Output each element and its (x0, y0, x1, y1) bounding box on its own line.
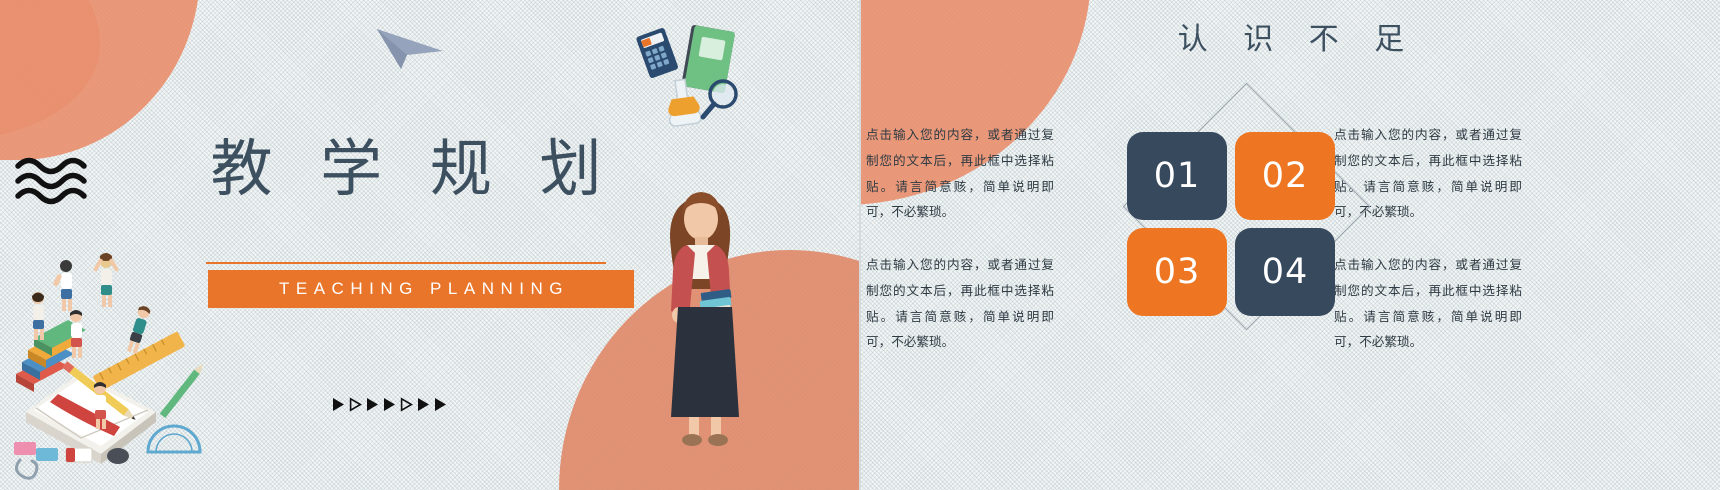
number-tile-04[interactable]: 04 (1235, 228, 1335, 316)
teacher-character-illustration (645, 183, 765, 453)
body-paragraph-bottom-left: 点击输入您的内容，或者通过复制您的文本后，再此框中选择粘贴。请言简意赅，简单说明… (866, 252, 1054, 355)
play-arrow-filled-icon (434, 397, 447, 412)
play-arrow-filled-icon (383, 397, 396, 412)
students-on-books-illustration (6, 252, 221, 487)
number-tile-01[interactable]: 01 (1127, 132, 1227, 220)
play-arrow-outline-icon (400, 397, 413, 412)
salmon-blob-top-left-secondary (0, 0, 100, 140)
play-arrow-filled-icon (332, 397, 345, 412)
wave-lines-icon (12, 152, 107, 210)
cover-slide: 教 学 规 划 TEACHING PLANNING (0, 0, 860, 490)
cover-subtitle-bar: TEACHING PLANNING (208, 270, 634, 308)
title-divider-rule (206, 262, 606, 264)
number-tile-diagram: 01 02 03 04 (1041, 90, 1541, 390)
content-slide: 认 识 不 足 点击输入您的内容，或者通过复制您的文本后，再此框中选择粘贴。请言… (860, 0, 1720, 490)
number-tile-03[interactable]: 03 (1127, 228, 1227, 316)
body-paragraph-top-left: 点击输入您的内容，或者通过复制您的文本后，再此框中选择粘贴。请言简意赅，简单说明… (866, 122, 1054, 225)
arrow-strip (332, 397, 447, 412)
number-tile-02[interactable]: 02 (1235, 132, 1335, 220)
paper-plane-icon (375, 25, 447, 78)
section-title: 认 识 不 足 (861, 14, 1720, 58)
play-arrow-filled-icon (366, 397, 379, 412)
play-arrow-filled-icon (417, 397, 430, 412)
play-arrow-outline-icon (349, 397, 362, 412)
tile-grid: 01 02 03 04 (1127, 132, 1335, 316)
cover-subtitle-label: TEACHING PLANNING (273, 279, 569, 299)
cover-title: 教 学 规 划 (196, 130, 616, 208)
salmon-blob-top-left (0, 0, 200, 160)
slide-deck: 教 学 规 划 TEACHING PLANNING 认 识 不 足 点击输入您的… (0, 0, 1720, 490)
school-supplies-illustration (630, 22, 750, 137)
